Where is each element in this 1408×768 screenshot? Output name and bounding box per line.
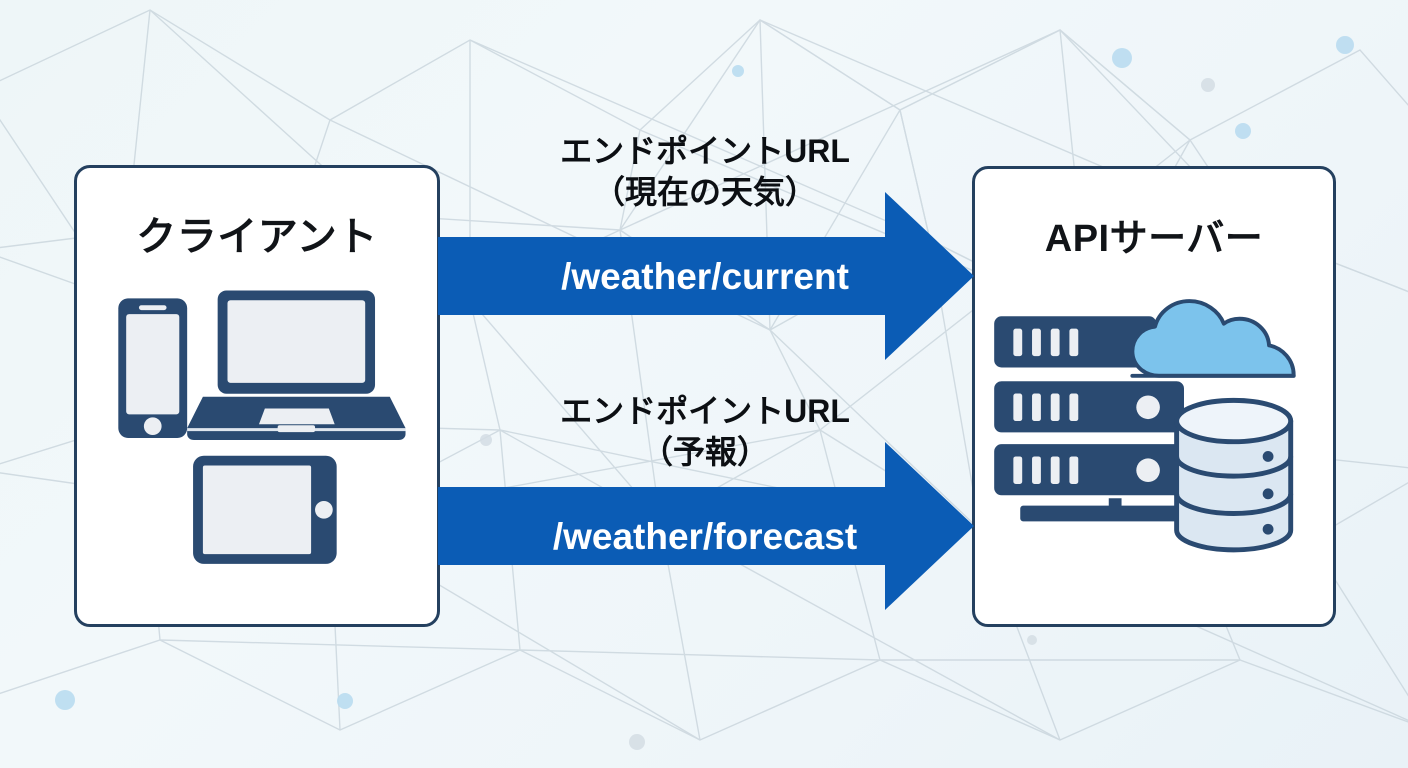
flow-caption-forecast: エンドポイントURL （予報） — [495, 391, 915, 473]
rack-unit-2-icon — [993, 380, 1186, 434]
client-devices-illustration — [77, 278, 437, 598]
flow-caption-current-line1: エンドポイントURL — [495, 131, 915, 172]
cloud-icon — [1132, 301, 1293, 376]
database-icon — [1177, 400, 1291, 549]
flow-path-forecast: /weather/forecast — [495, 516, 915, 558]
client-panel: クライアント — [74, 165, 440, 627]
api-server-illustration — [975, 279, 1333, 569]
flow-caption-current-line2: （現在の天気） — [495, 172, 915, 213]
rack-unit-3-icon — [993, 443, 1186, 497]
laptop-icon — [187, 290, 405, 440]
tablet-icon — [193, 456, 337, 564]
diagram-canvas: クライアント — [0, 0, 1408, 768]
flow-path-current: /weather/current — [495, 256, 915, 298]
flow-caption-current: エンドポイントURL （現在の天気） — [495, 131, 915, 213]
smartphone-icon — [118, 298, 187, 438]
flow-caption-forecast-line1: エンドポイントURL — [495, 391, 915, 432]
server-panel: APIサーバー — [972, 166, 1336, 627]
client-title: クライアント — [77, 204, 437, 262]
flow-caption-forecast-line2: （予報） — [495, 432, 915, 473]
server-title: APIサーバー — [975, 207, 1333, 262]
